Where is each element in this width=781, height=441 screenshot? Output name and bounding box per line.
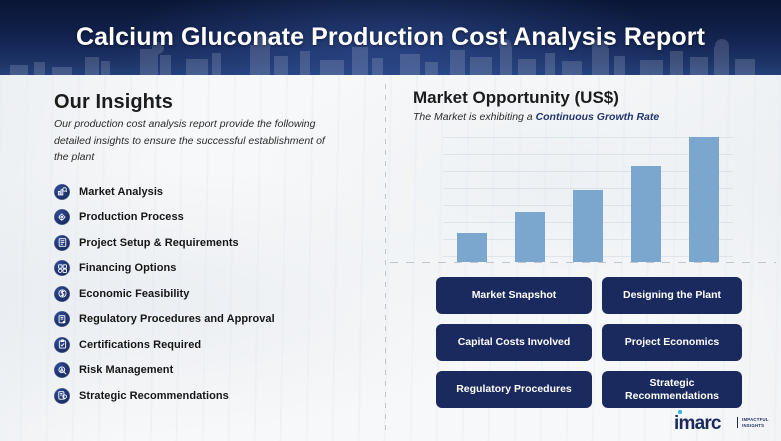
list-item-label: Risk Management [79,364,173,376]
list-item-label: Certifications Required [79,339,201,351]
designing-the-plant-button[interactable]: Designing the Plant [602,277,742,314]
list-item-label: Market Analysis [79,186,163,198]
chart-bar [457,233,487,262]
insights-panel: Our Insights Our production cost analysi… [0,75,385,441]
project-economics-button[interactable]: Project Economics [602,324,742,361]
list-item[interactable]: Regulatory Procedures and Approval [54,307,374,333]
chart-bar [573,190,603,263]
imarc-logo[interactable]: imarc IMPACTFUL INSIGHTS [674,410,772,436]
list-item[interactable]: Project Setup & Requirements [54,230,374,256]
logo-tagline-line1: IMPACTFUL [742,417,769,423]
market-opportunity-bar-chart [443,137,733,262]
list-item-label: Financing Options [79,262,176,274]
subtitle-accent-text: Continuous Growth Rate [536,111,660,123]
market-opportunity-panel: Market Opportunity (US$) The Market is e… [385,75,781,441]
risk-management-icon [54,362,70,378]
chart-bar-slot [501,137,559,262]
insights-heading: Our Insights [54,91,173,114]
strategic-recommendations-icon [54,388,70,404]
market-analysis-icon [54,184,70,200]
certifications-icon [54,337,70,353]
subtitle-plain-text: The Market is exhibiting a [413,111,536,123]
strategic-recommendations-button[interactable]: Strategic Recommendations [602,371,742,408]
list-item[interactable]: Certifications Required [54,332,374,358]
market-snapshot-button[interactable]: Market Snapshot [436,277,592,314]
project-setup-icon [54,235,70,251]
chart-bar [631,166,661,262]
market-opportunity-heading: Market Opportunity (US$) [413,88,619,108]
list-item[interactable]: Market Analysis [54,179,374,205]
regulatory-procedures-icon [54,311,70,327]
logo-wordmark: imarc [674,414,721,434]
list-item[interactable]: Production Process [54,205,374,231]
list-item[interactable]: Strategic Recommendations [54,383,374,409]
page-header: Calcium Gluconate Production Cost Analys… [0,0,781,75]
insights-list: Market Analysis Production Process P [54,179,374,409]
list-item-label: Production Process [79,211,184,223]
financing-options-icon [54,260,70,276]
chart-bar-slot [675,137,733,262]
regulatory-procedures-button[interactable]: Regulatory Procedures [436,371,592,408]
logo-tagline: IMPACTFUL INSIGHTS [737,417,769,428]
list-item[interactable]: Economic Feasibility [54,281,374,307]
list-item-label: Strategic Recommendations [79,390,229,402]
list-item-label: Project Setup & Requirements [79,237,239,249]
list-item-label: Economic Feasibility [79,288,189,300]
list-item[interactable]: Risk Management [54,358,374,384]
chart-bar-slot [617,137,675,262]
capital-costs-involved-button[interactable]: Capital Costs Involved [436,324,592,361]
economic-feasibility-icon [54,286,70,302]
insights-description: Our production cost analysis report prov… [54,116,339,166]
chart-bar-slot [443,137,501,262]
chart-bars [443,137,733,262]
logo-tagline-line2: INSIGHTS [742,423,769,429]
topics-button-grid: Market Snapshot Designing the Plant Capi… [436,277,742,408]
list-item-label: Regulatory Procedures and Approval [79,313,275,325]
page-title: Calcium Gluconate Production Cost Analys… [0,23,781,52]
production-process-icon [54,209,70,225]
market-opportunity-subtitle: The Market is exhibiting a Continuous Gr… [413,111,659,123]
chart-bar [515,212,545,262]
chart-bar [689,137,719,262]
chart-bar-slot [559,137,617,262]
list-item[interactable]: Financing Options [54,256,374,282]
